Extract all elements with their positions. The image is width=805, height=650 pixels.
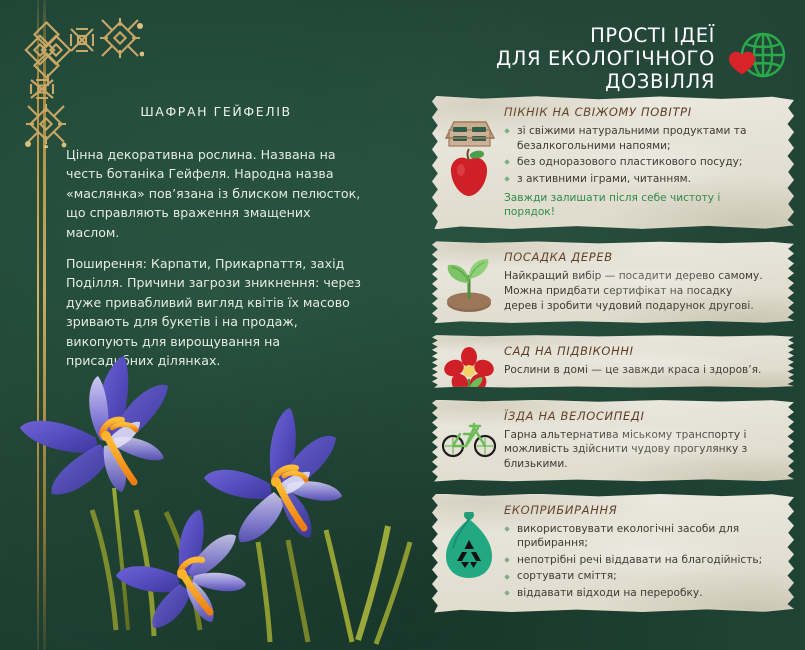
eco-ideas-card-list: ПІКНІК НА СВІЖОМУ ПОВІТРІ зі свіжими нат… — [432, 96, 794, 625]
list-item: без одноразового пластикового посуду; — [504, 155, 768, 170]
card-windowsill-garden[interactable]: САД НА ПІДВІКОННІ Рослини в домі — це за… — [432, 335, 794, 388]
list-item: зі свіжими натуральними продуктами та бе… — [504, 124, 768, 153]
page-title-line-2: ДЛЯ ЕКОЛОГІЧНОГО — [496, 47, 715, 70]
card-picnic[interactable]: ПІКНІК НА СВІЖОМУ ПОВІТРІ зі свіжими нат… — [432, 96, 794, 229]
bicycle-icon — [440, 412, 498, 464]
card-bullet-list: зі свіжими натуральними продуктами та бе… — [504, 124, 768, 186]
infographic-page: ПРОСТІ ІДЕЇДЛЯ ЕКОЛОГІЧНОГОДОЗВІЛЛЯ ШАФР… — [0, 0, 805, 650]
card-tree-planting[interactable]: ПОСАДКА ДЕРЕВ Найкращий вибір — посадити… — [432, 241, 794, 323]
seedling-sprout-icon — [440, 253, 498, 319]
card-bullet-list: використовувати екологічні засоби для пр… — [504, 522, 768, 601]
card-heading: САД НА ПІДВІКОННІ — [504, 344, 768, 358]
card-text: Найкращий вибір — посадити дерево самому… — [504, 269, 768, 313]
card-heading: ЕКОПРИБИРАННЯ — [504, 503, 768, 517]
list-item: сортувати сміття; — [504, 569, 768, 584]
card-text: Рослини в домі — це завжди краса і здоро… — [504, 363, 768, 378]
page-title: ПРОСТІ ІДЕЇДЛЯ ЕКОЛОГІЧНОГОДОЗВІЛЛЯ — [496, 24, 715, 93]
list-item: використовувати екологічні засоби для пр… — [504, 522, 768, 551]
list-item: віддавати відходи на переробку. — [504, 586, 768, 601]
card-heading: ПОСАДКА ДЕРЕВ — [504, 250, 768, 264]
card-eco-cleaning[interactable]: ЕКОПРИБИРАННЯ використовувати екологічні… — [432, 494, 794, 613]
red-flower-icon — [440, 347, 498, 403]
globe-with-heart-icon — [727, 28, 789, 88]
card-heading: ПІКНІК НА СВІЖОМУ ПОВІТРІ — [504, 105, 768, 119]
header: ПРОСТІ ІДЕЇДЛЯ ЕКОЛОГІЧНОГОДОЗВІЛЛЯ — [429, 24, 789, 93]
card-cycling[interactable]: ЇЗДА НА ВЕЛОСИПЕДІ Гарна альтернатива мі… — [432, 400, 794, 482]
page-title-line-3: ДОЗВІЛЛЯ — [605, 70, 715, 93]
card-note: Завжди залишати після себе чистоту і пор… — [504, 191, 768, 219]
crocus-flowers-illustration — [0, 330, 426, 650]
list-item: непотрібні речі віддавати на благодійніс… — [504, 553, 768, 568]
article-heading: ШАФРАН ГЕЙФЕЛІВ — [66, 104, 366, 119]
recycling-bag-icon — [440, 506, 498, 586]
card-text: Гарна альтернатива міському транспорту і… — [504, 428, 768, 472]
card-heading: ЇЗДА НА ВЕЛОСИПЕДІ — [504, 409, 768, 423]
picnic-basket-and-apple-icon — [440, 108, 498, 204]
article-paragraph-1: Цінна декоративна рослина. Названа на че… — [66, 145, 366, 242]
list-item: з активними іграми, читанням. — [504, 172, 768, 187]
page-title-line-1: ПРОСТІ ІДЕЇ — [590, 24, 715, 47]
